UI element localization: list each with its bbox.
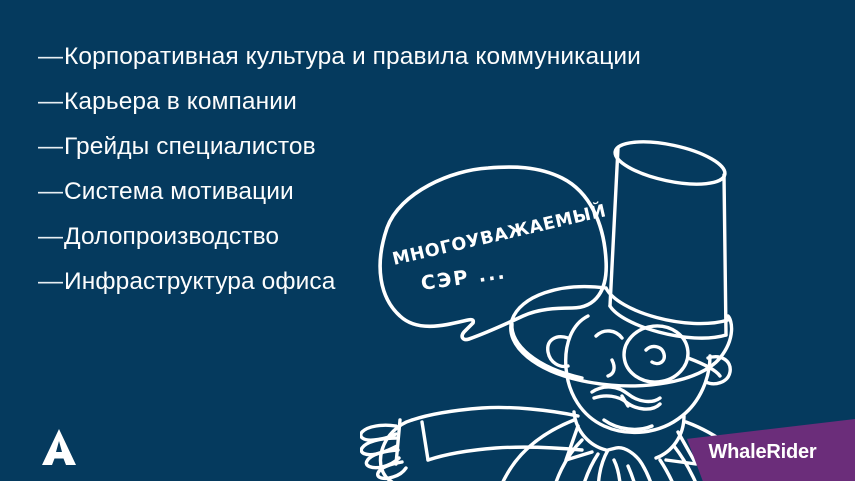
bullet-label: Карьера в компании <box>64 90 297 115</box>
list-item: — Корпоративная культура и правила комму… <box>38 44 698 89</box>
slide-canvas: — Корпоративная культура и правила комму… <box>0 0 855 481</box>
outstretched-arm <box>361 407 582 481</box>
logo-letter-a-glyph <box>42 429 76 465</box>
bullet-marker: — <box>38 44 64 69</box>
bullet-label: Долопроизводство <box>64 225 279 250</box>
list-item: — Карьера в компании <box>38 89 698 134</box>
badge-label: WhaleRider <box>680 441 845 464</box>
bullet-label: Инфраструктура офиса <box>64 270 336 295</box>
bullet-marker: — <box>38 89 64 114</box>
bullet-list: — Корпоративная культура и правила комму… <box>38 44 698 314</box>
brand-logo <box>36 424 82 470</box>
list-item: — Инфраструктура офиса <box>38 269 698 314</box>
bullet-marker: — <box>38 269 64 294</box>
bullet-label: Грейды специалистов <box>64 135 316 160</box>
bullet-label: Корпоративная культура и правила коммуни… <box>64 45 641 70</box>
list-item: — Грейды специалистов <box>38 134 698 179</box>
list-item: — Долопроизводство <box>38 224 698 269</box>
bullet-label: Система мотивации <box>64 180 294 205</box>
bullet-marker: — <box>38 179 64 204</box>
bullet-marker: — <box>38 224 64 249</box>
list-item: — Система мотивации <box>38 179 698 224</box>
whalerider-badge[interactable]: WhaleRider <box>680 419 855 481</box>
bullet-marker: — <box>38 134 64 159</box>
